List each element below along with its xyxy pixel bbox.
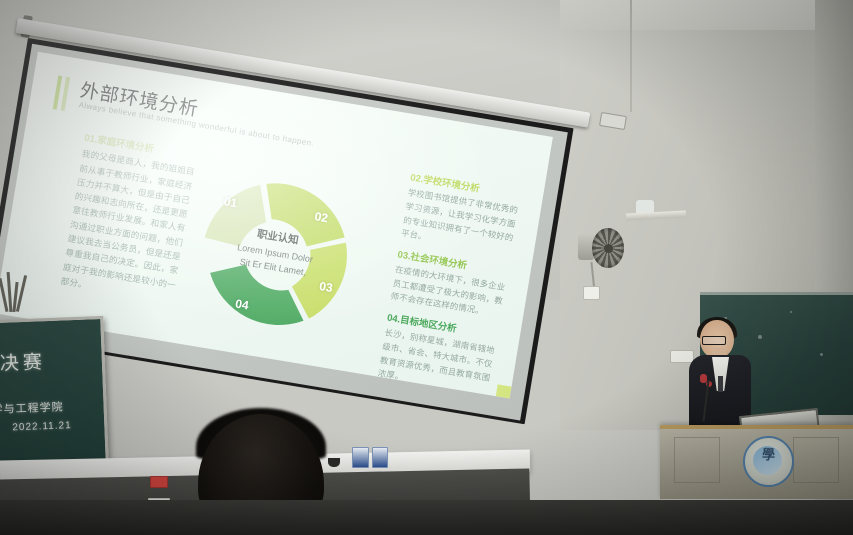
university-emblem: 學 — [743, 436, 794, 487]
glasses-icon — [702, 336, 726, 345]
segment-01-label: 01 — [223, 194, 238, 210]
slide-corner-accent — [496, 384, 512, 398]
lower-desk-row — [0, 500, 853, 535]
career-cycle-diagram: 01 02 03 04 职业认知 Lorem Ipsum Dolor Sit E… — [167, 153, 383, 357]
chalk-line-1: 决赛 — [0, 347, 46, 376]
desk-cup — [328, 458, 340, 467]
podium-panel-left — [674, 437, 720, 483]
slide-right-column: 02.学校环境分析 学校图书馆提供了非常优秀的学习资源，让我学习化学方面的专业知… — [375, 172, 521, 398]
brush-holder — [0, 268, 26, 312]
wall-switch[interactable] — [583, 286, 600, 300]
chalk-line-3: 2022.11.21 — [12, 420, 72, 433]
desk-box-1 — [352, 447, 369, 468]
shelf-object — [636, 200, 654, 213]
fan-hub — [604, 244, 613, 253]
microphone-icon — [700, 374, 707, 383]
chalk-line-2: 学与工程学院 — [0, 398, 64, 417]
desk-box-2 — [372, 447, 388, 468]
emblem-glyph: 學 — [745, 444, 792, 463]
wall-socket — [670, 350, 694, 363]
screenshot-root: 外部环境分析 Always believe that something won… — [0, 0, 853, 535]
segment-02-label: 02 — [314, 209, 329, 225]
screen-hanging-wire — [630, 0, 632, 112]
presenter-tie — [718, 376, 723, 392]
segment-04-label: 04 — [234, 297, 249, 313]
podium-panel-right — [793, 437, 839, 483]
title-accent-bars — [53, 75, 74, 111]
desk-red-item — [150, 476, 168, 488]
ceiling-edge — [560, 0, 853, 30]
easel-blackboard: 决赛 学与工程学院 2022.11.21 — [0, 316, 109, 466]
